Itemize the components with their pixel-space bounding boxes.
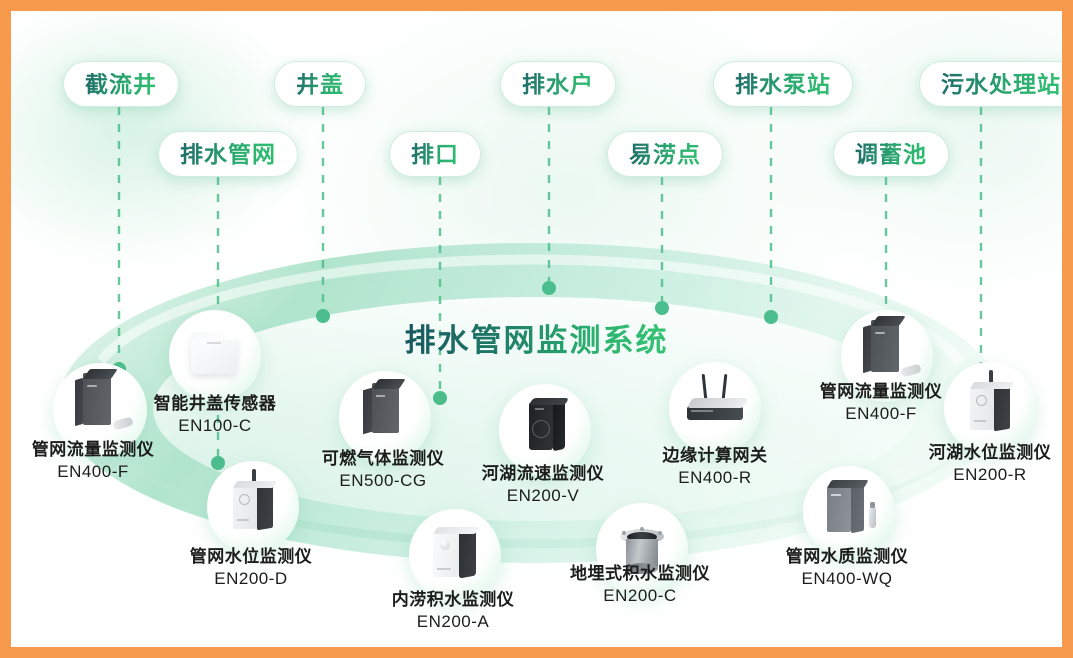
device-disc (944, 362, 1036, 454)
connector-dot (542, 281, 556, 295)
scene-pill-1[interactable]: 截流井 (63, 61, 179, 107)
scene-pill-6[interactable]: 易涝点 (607, 131, 723, 177)
device-art-cabinet-light-antenna (944, 362, 1036, 454)
device-disc (669, 362, 761, 454)
scene-pill-label: 排水泵站 (735, 73, 831, 96)
device-name: 管网水位监测仪 (121, 546, 381, 568)
device-caption: 管网水质监测仪EN400-WQ (717, 546, 977, 590)
device-model: EN400-F (11, 461, 223, 483)
scene-pill-8[interactable]: 调蓄池 (833, 131, 949, 177)
device-caption: 智能井盖传感器EN100-C (85, 393, 345, 437)
scene-pill-4[interactable]: 排口 (389, 131, 481, 177)
device-caption: 河湖水位监测仪EN200-R (860, 442, 1062, 486)
scene-pill-label: 井盖 (296, 73, 344, 96)
scene-pill-label: 污水处理站 (941, 73, 1061, 96)
device-model: EN100-C (85, 415, 345, 437)
device-caption: 管网水位监测仪EN200-D (121, 546, 381, 590)
device-model: EN200-A (323, 611, 583, 633)
scene-pill-label: 易涝点 (629, 143, 701, 166)
page-title: 排水管网监测系统 (405, 315, 669, 360)
device-caption: 管网流量监测仪EN400-F (11, 439, 223, 483)
diagram-stage: 截流井排水管网井盖排口排水户易涝点排水泵站调蓄池污水处理站 排水管网监测系统 管… (11, 11, 1062, 647)
device-disc (169, 310, 261, 402)
scene-pill-label: 排水管网 (180, 143, 276, 166)
device-name: 智能井盖传感器 (85, 393, 345, 415)
device-disc (409, 509, 501, 601)
scene-pill-label: 调蓄池 (855, 143, 927, 166)
scene-pill-label: 排水户 (522, 73, 594, 96)
scene-pill-label: 截流井 (85, 73, 157, 96)
poster-frame: 截流井排水管网井盖排口排水户易涝点排水泵站调蓄池污水处理站 排水管网监测系统 管… (0, 0, 1073, 658)
device-model: EN200-D (121, 568, 381, 590)
device-model: EN200-R (860, 464, 1062, 486)
scene-pill-2[interactable]: 排水管网 (158, 131, 298, 177)
device-art-router-two-antenna (669, 362, 761, 454)
connector-dot (655, 301, 669, 315)
scene-pill-label: 排口 (411, 143, 459, 166)
connector-dot (433, 391, 447, 405)
device-art-cabinet-white-dial (409, 509, 501, 601)
scene-pill-3[interactable]: 井盖 (274, 61, 366, 107)
device-art-flat-square-white (169, 310, 261, 402)
device-name: 管网流量监测仪 (11, 439, 223, 461)
scene-pill-7[interactable]: 排水泵站 (713, 61, 853, 107)
device-name: 管网水质监测仪 (717, 546, 977, 568)
device-name: 边缘计算网关 (585, 445, 845, 467)
device-model: EN400-WQ (717, 568, 977, 590)
scene-pill-9[interactable]: 污水处理站 (919, 61, 1062, 107)
device-name: 河湖水位监测仪 (860, 442, 1062, 464)
scene-pill-5[interactable]: 排水户 (500, 61, 616, 107)
